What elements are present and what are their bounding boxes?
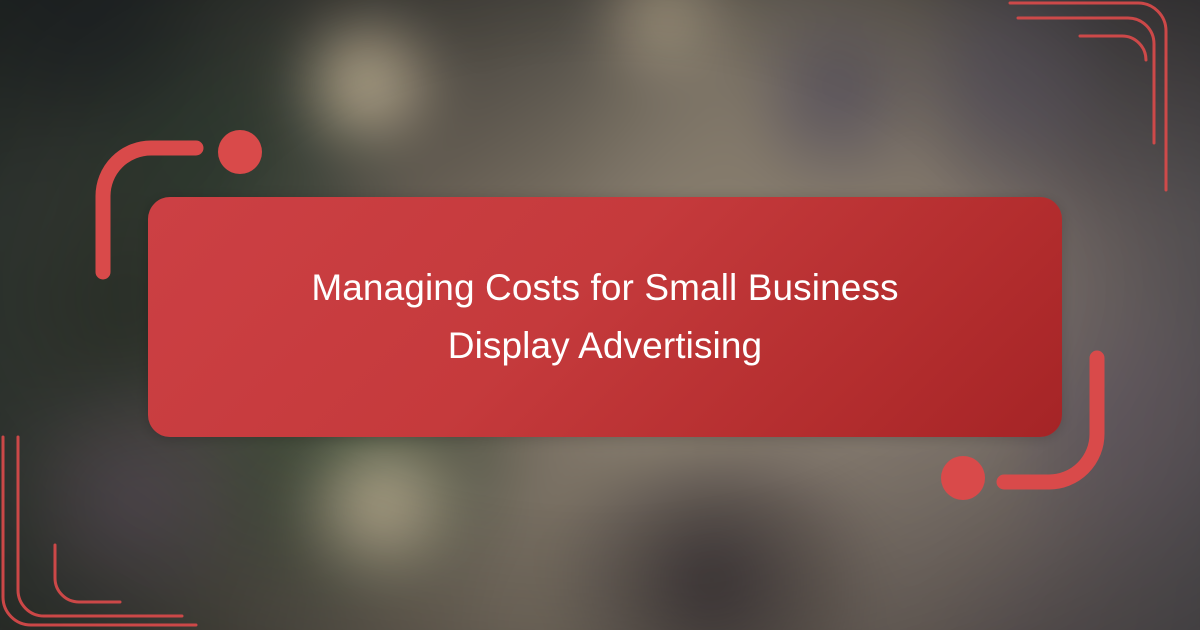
- og-image-canvas: Managing Costs for Small Business Displa…: [0, 0, 1200, 630]
- page-title: Managing Costs for Small Business Displa…: [255, 259, 955, 374]
- title-card: Managing Costs for Small Business Displa…: [148, 197, 1062, 437]
